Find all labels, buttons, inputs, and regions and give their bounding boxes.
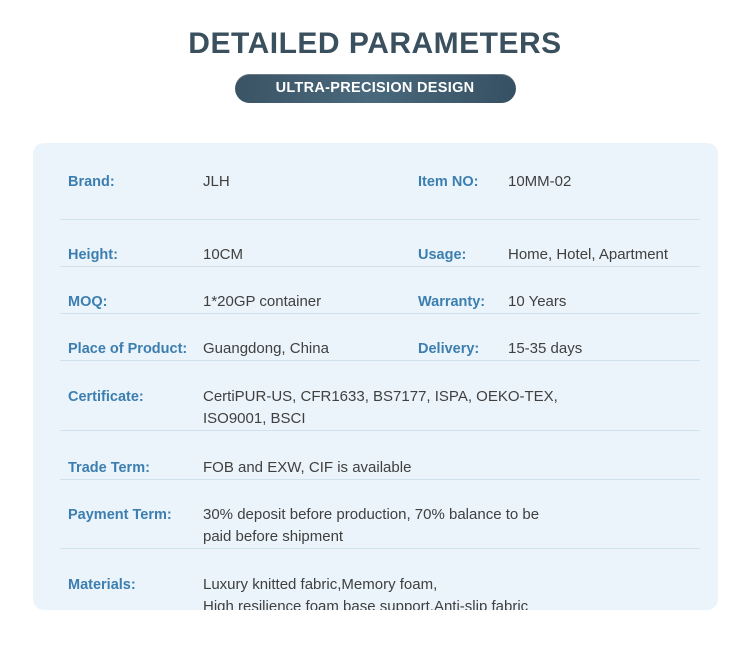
table-row: MOQ: 1*20GP container Warranty: 10 Years (33, 266, 718, 313)
table-row: Height: 10CM Usage: Home, Hotel, Apartme… (33, 219, 718, 266)
param-label: Certificate: (68, 386, 203, 408)
param-label: Warranty: (418, 291, 508, 313)
param-label: Height: (68, 244, 203, 266)
row-divider (60, 430, 700, 431)
table-row: Materials: Luxury knitted fabric,Memory … (33, 548, 718, 610)
param-label: MOQ: (68, 291, 203, 313)
param-cell: Height: 10CM (33, 244, 405, 266)
param-cell: Brand: JLH (33, 171, 405, 193)
table-row: Payment Term: 30% deposit before product… (33, 479, 718, 548)
param-value: Home, Hotel, Apartment (508, 244, 668, 266)
param-label: Usage: (418, 244, 508, 266)
param-value: 10CM (203, 244, 243, 266)
table-row: Trade Term: FOB and EXW, CIF is availabl… (33, 430, 718, 479)
param-value: 10 Years (508, 291, 566, 313)
param-value: FOB and EXW, CIF is available (203, 457, 411, 479)
param-label: Payment Term: (68, 504, 203, 526)
table-row: Brand: JLH Item NO: 10MM-02 (33, 171, 718, 219)
param-cell: Warranty: 10 Years (405, 291, 718, 313)
param-value: 30% deposit before production, 70% balan… (203, 504, 539, 548)
param-cell: Trade Term: FOB and EXW, CIF is availabl… (33, 457, 718, 479)
param-value: 10MM-02 (508, 171, 571, 193)
row-divider (60, 479, 700, 480)
page-header: DETAILED PARAMETERS ULTRA-PRECISION DESI… (0, 0, 750, 103)
row-divider (60, 313, 700, 314)
param-cell: Certificate: CertiPUR-US, CFR1633, BS717… (33, 386, 718, 430)
table-row: Place of Product: Guangdong, China Deliv… (33, 313, 718, 360)
parameters-panel: Brand: JLH Item NO: 10MM-02 Height: 10CM… (33, 143, 718, 610)
badge-container: ULTRA-PRECISION DESIGN (0, 74, 750, 103)
page-title: DETAILED PARAMETERS (0, 26, 750, 62)
param-label: Brand: (68, 171, 203, 193)
param-cell: Usage: Home, Hotel, Apartment (405, 244, 718, 266)
param-value: CertiPUR-US, CFR1633, BS7177, ISPA, OEKO… (203, 386, 558, 430)
param-value: JLH (203, 171, 230, 193)
param-label: Materials: (68, 574, 203, 596)
param-cell: MOQ: 1*20GP container (33, 291, 405, 313)
param-cell: Payment Term: 30% deposit before product… (33, 504, 718, 548)
row-divider (60, 219, 700, 220)
ultra-precision-design-badge: ULTRA-PRECISION DESIGN (235, 74, 516, 103)
param-label: Delivery: (418, 338, 508, 360)
param-value: 15-35 days (508, 338, 582, 360)
param-label: Trade Term: (68, 457, 203, 479)
detailed-parameters-page: DETAILED PARAMETERS ULTRA-PRECISION DESI… (0, 0, 750, 645)
row-divider (60, 266, 700, 267)
param-cell: Place of Product: Guangdong, China (33, 338, 405, 360)
table-row: Certificate: CertiPUR-US, CFR1633, BS717… (33, 360, 718, 430)
param-cell: Item NO: 10MM-02 (405, 171, 718, 193)
row-divider (60, 360, 700, 361)
param-value: Luxury knitted fabric,Memory foam, High … (203, 574, 528, 610)
row-divider (60, 548, 700, 549)
param-value: 1*20GP container (203, 291, 321, 313)
param-label: Item NO: (418, 171, 508, 193)
param-value: Guangdong, China (203, 338, 329, 360)
param-label: Place of Product: (68, 338, 203, 360)
param-cell: Materials: Luxury knitted fabric,Memory … (33, 574, 718, 610)
param-cell: Delivery: 15-35 days (405, 338, 718, 360)
